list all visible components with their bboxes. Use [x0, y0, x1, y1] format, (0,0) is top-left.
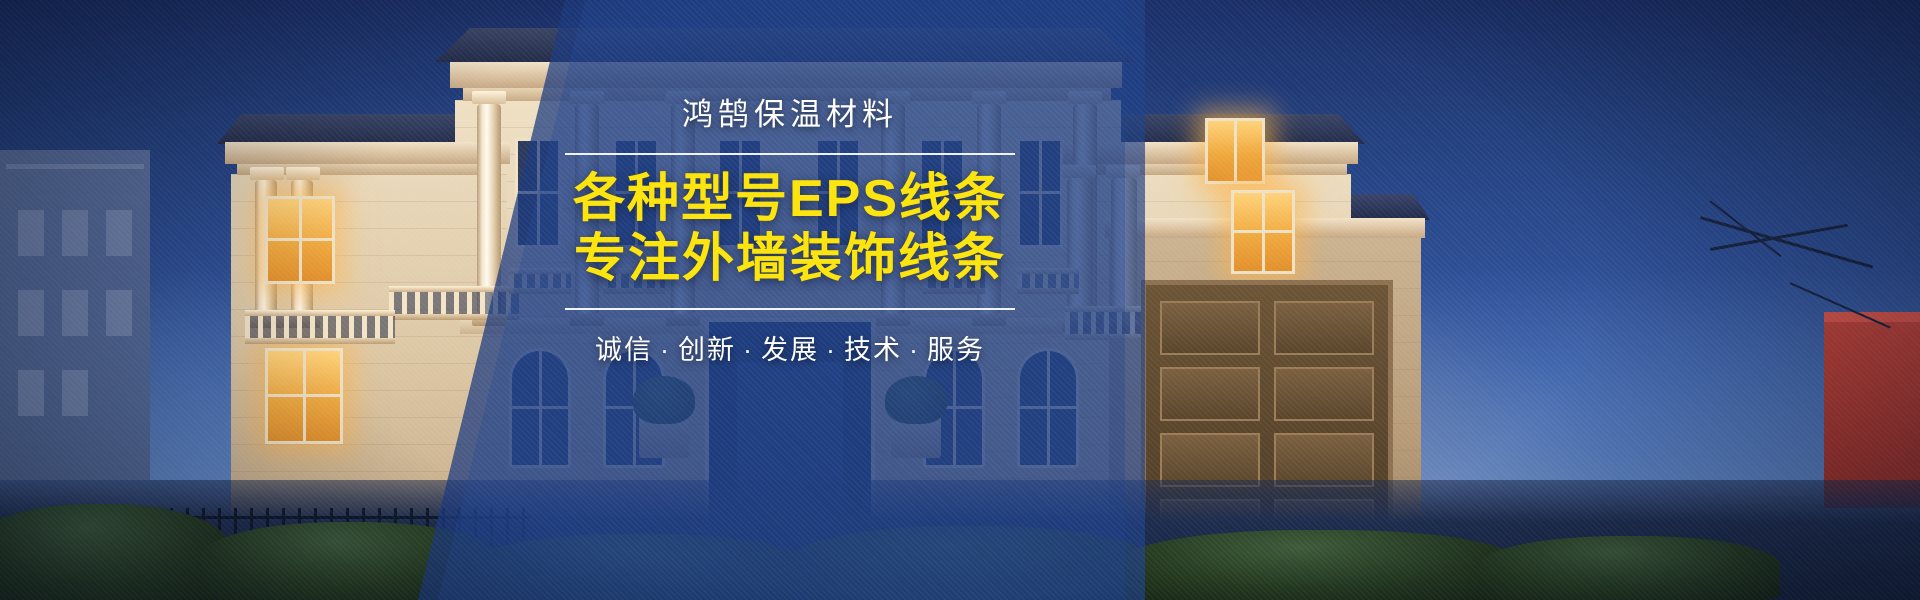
slogan-separator: · [660, 335, 671, 365]
headline-line-1: 各种型号EPS线条 [555, 169, 1025, 229]
slogan-item: 服务 [927, 335, 985, 365]
divider-bottom [565, 308, 1015, 310]
headline-line-2: 专注外墙装饰线条 [555, 229, 1025, 289]
slogan-separator: · [743, 335, 754, 365]
slogan-separator: · [909, 335, 920, 365]
divider-top [565, 153, 1015, 155]
brand-name: 鸿鹄保温材料 [555, 96, 1025, 135]
headline-block: 各种型号EPS线条 专注外墙装饰线条 [555, 169, 1025, 290]
slogan: 诚信·创新·发展·技术·服务 [555, 328, 1025, 367]
slogan-item: 技术 [844, 335, 902, 365]
slogan-item: 创新 [678, 335, 736, 365]
slogan-item: 诚信 [595, 335, 653, 365]
slogan-separator: · [826, 335, 837, 365]
hero-banner: 鸿鹄保温材料 各种型号EPS线条 专注外墙装饰线条 诚信·创新·发展·技术·服务 [0, 0, 1920, 600]
slogan-item: 发展 [761, 335, 819, 365]
banner-content: 鸿鹄保温材料 各种型号EPS线条 专注外墙装饰线条 诚信·创新·发展·技术·服务 [555, 96, 1025, 367]
